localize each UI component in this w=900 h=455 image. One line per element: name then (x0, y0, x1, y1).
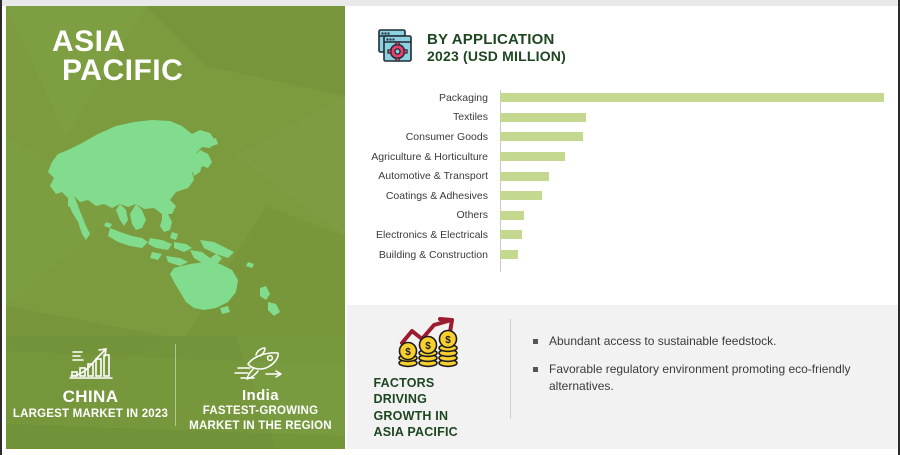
bar-label: Building & Construction (347, 249, 494, 261)
stat-china: CHINA LARGEST MARKET IN 2023 (6, 336, 175, 422)
bar-label: Agriculture & Horticulture (347, 151, 494, 163)
bar-row: Others (347, 206, 898, 226)
growth-bar-chart-icon (6, 344, 175, 384)
bar-fill[interactable] (500, 152, 565, 161)
factors-title: FACTORS DRIVING GROWTH IN ASIA PACIFIC (374, 375, 484, 440)
bar-label: Textiles (347, 111, 494, 123)
bar-fill[interactable] (500, 230, 522, 239)
bar-row: Agriculture & Horticulture (347, 147, 898, 167)
chart-subtitle: 2023 (USD MILLION) (427, 49, 566, 65)
application-windows-gear-icon (375, 26, 415, 71)
chart-title: BY APPLICATION (427, 32, 566, 49)
svg-text:$: $ (445, 335, 451, 346)
bar-row: Electronics & Electricals (347, 225, 898, 245)
stat-india-desc-line1: FASTEST-GROWING (176, 405, 345, 419)
bar-rows: PackagingTextilesConsumer GoodsAgricultu… (347, 88, 898, 264)
map-icon (24, 110, 345, 322)
asia-pacific-map (24, 110, 345, 322)
stat-india-desc-line2: MARKET IN THE REGION (176, 420, 345, 434)
factors-bullet-list: Abundant access to sustainable feedstock… (511, 305, 898, 406)
stat-china-name: CHINA (6, 387, 175, 407)
bar-track (494, 147, 898, 167)
coins-growth-arrow-icon: $ $ $ (394, 317, 464, 369)
bar-chart: PackagingTextilesConsumer GoodsAgricultu… (347, 88, 898, 283)
bar-fill[interactable] (500, 191, 542, 200)
bar-row: Textiles (347, 108, 898, 128)
svg-text:$: $ (405, 347, 411, 358)
bar-row: Coatings & Adhesives (347, 186, 898, 206)
bar-track (494, 186, 898, 206)
bar-track (494, 88, 898, 108)
stats-row: CHINA LARGEST MARKET IN 2023 (6, 336, 345, 449)
infographic-root: ASIA PACIFIC (0, 0, 900, 455)
bar-label: Packaging (347, 92, 494, 104)
bar-track (494, 245, 898, 265)
chart-title-block: BY APPLICATION 2023 (USD MILLION) (427, 32, 566, 64)
bar-track (494, 166, 898, 186)
bar-fill[interactable] (500, 211, 524, 220)
factors-title-line1: FACTORS DRIVING (374, 375, 484, 408)
region-panel: ASIA PACIFIC (6, 6, 345, 449)
page-title: ASIA PACIFIC (52, 28, 183, 86)
region-title-line2: PACIFIC (52, 57, 183, 86)
bar-fill[interactable] (500, 250, 518, 259)
bar-row: Automotive & Transport (347, 166, 898, 186)
rocket-icon (176, 344, 345, 384)
bottom-strip (2, 449, 900, 455)
bar-fill[interactable] (500, 93, 884, 102)
bar-fill[interactable] (500, 113, 586, 122)
factor-bullet: Favorable regulatory environment promoti… (533, 361, 878, 395)
factors-title-line2: GROWTH IN (374, 408, 484, 424)
bar-row: Building & Construction (347, 245, 898, 265)
stat-india: India FASTEST-GROWING MARKET IN THE REGI… (176, 336, 345, 433)
bar-track (494, 127, 898, 147)
factors-panel: $ $ $ FACTORS DRIVING GROWTH IN ASIA PAC… (347, 305, 898, 449)
bar-row: Packaging (347, 88, 898, 108)
bar-label: Automotive & Transport (347, 170, 494, 182)
bar-fill[interactable] (500, 132, 583, 141)
stat-india-name: India (176, 387, 345, 404)
bar-track (494, 206, 898, 226)
factors-left: $ $ $ FACTORS DRIVING GROWTH IN ASIA PAC… (347, 305, 510, 440)
factors-title-line3: ASIA PACIFIC (374, 424, 484, 440)
bar-track (494, 108, 898, 128)
factor-bullet: Abundant access to sustainable feedstock… (533, 333, 878, 350)
bar-label: Coatings & Adhesives (347, 190, 494, 202)
bar-row: Consumer Goods (347, 127, 898, 147)
bar-track (494, 225, 898, 245)
bar-fill[interactable] (500, 172, 549, 181)
bar-label: Others (347, 209, 494, 221)
chart-header: BY APPLICATION 2023 (USD MILLION) (375, 26, 566, 71)
bar-label: Consumer Goods (347, 131, 494, 143)
bar-label: Electronics & Electricals (347, 229, 494, 241)
svg-text:$: $ (425, 341, 431, 352)
stat-china-desc: LARGEST MARKET IN 2023 (6, 408, 175, 422)
chart-panel: BY APPLICATION 2023 (USD MILLION) Packag… (347, 6, 898, 305)
